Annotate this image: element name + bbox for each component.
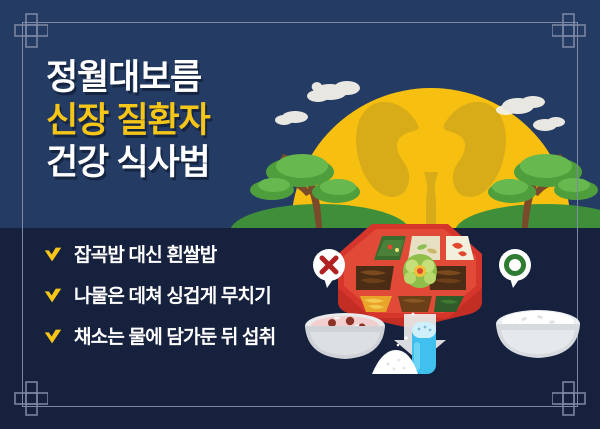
- list-item: 나물은 데쳐 싱겁게 무치기: [42, 285, 275, 307]
- title-line-3: 건강 식사법: [46, 143, 316, 184]
- gujeolpan-tray-icon: [338, 224, 482, 327]
- multigrain-rice-bowl-icon: [305, 313, 385, 359]
- cloud-right-lower-icon: [533, 117, 565, 131]
- tray-center-garnish: [403, 254, 437, 288]
- tip-label: 나물은 데쳐 싱겁게 무치기: [74, 287, 271, 306]
- title-line-1: 정월대보름: [46, 58, 316, 99]
- list-item: 잡곡밥 대신 흰쌀밥: [42, 244, 275, 266]
- tip-label: 채소는 물에 담가둔 뒤 섭취: [74, 328, 275, 347]
- food-illustration: [300, 214, 600, 399]
- title-line-2: 신장 질환자: [46, 101, 316, 142]
- check-icon: [42, 326, 64, 348]
- cloud-right-upper-icon: [496, 96, 545, 115]
- white-rice-bowl-icon: [496, 310, 580, 358]
- tip-label: 잡곡밥 대신 흰쌀밥: [74, 246, 216, 265]
- check-icon: [42, 285, 64, 307]
- tips-list: 잡곡밥 대신 흰쌀밥 나물은 데쳐 싱겁게 무치기 채소는 물에 담가둔 뒤 섭…: [42, 244, 275, 367]
- list-item: 채소는 물에 담가둔 뒤 섭취: [42, 326, 275, 348]
- title-block: 정월대보름 신장 질환자 건강 식사법: [46, 58, 316, 186]
- poster-canvas: 정월대보름 신장 질환자 건강 식사법 잡곡밥 대신 흰쌀밥 나물은 데쳐 싱겁…: [0, 0, 600, 429]
- salt-shaker-icon: [412, 322, 436, 374]
- o-mark-badge: [499, 249, 531, 288]
- check-icon: [42, 244, 64, 266]
